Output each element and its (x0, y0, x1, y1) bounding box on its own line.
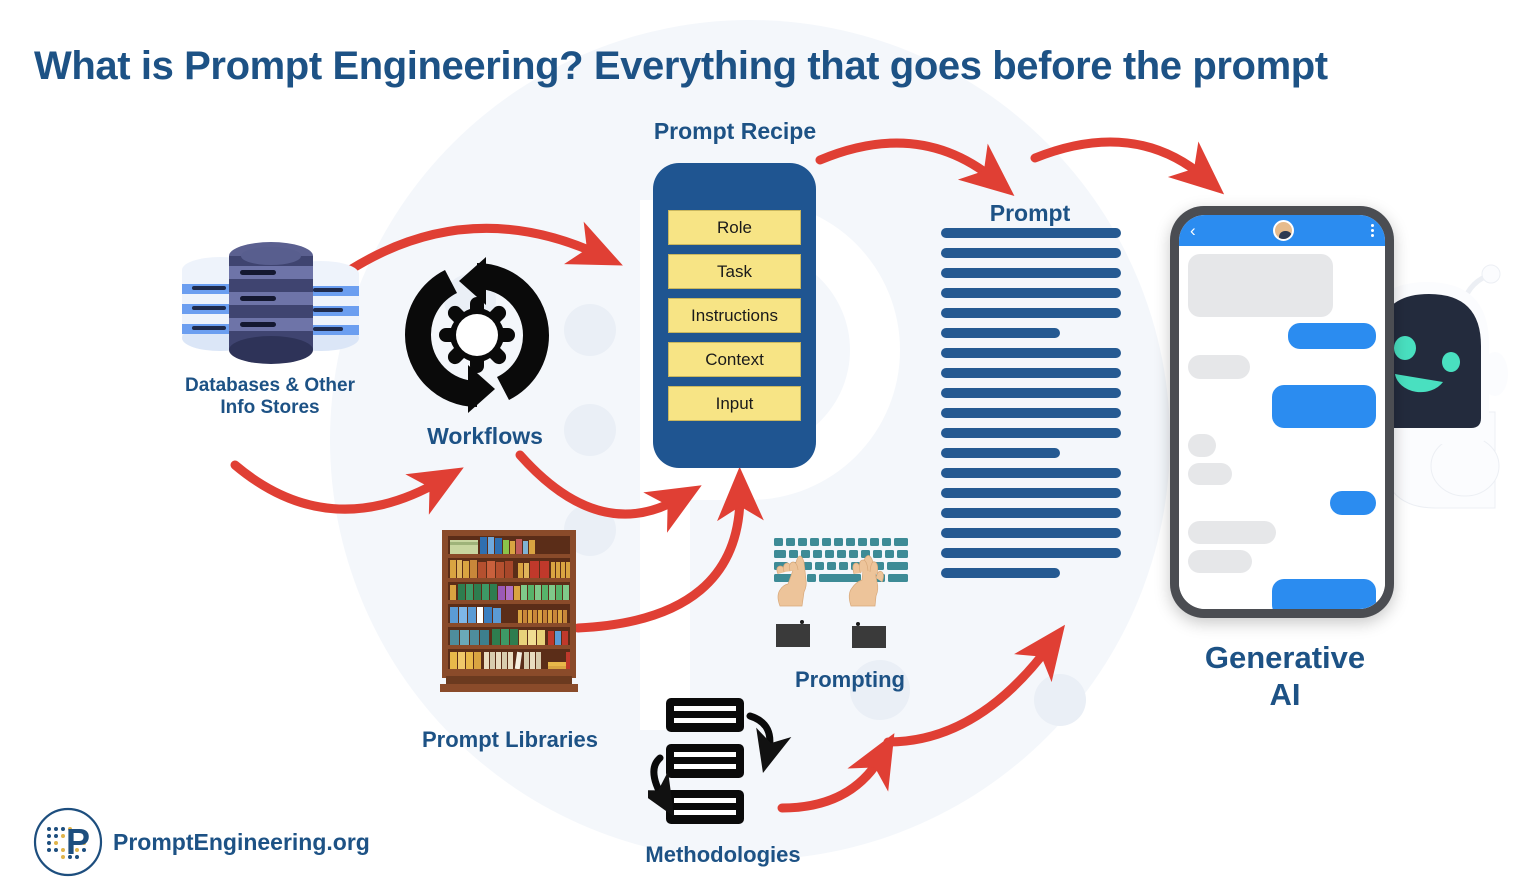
three-dots-vertical-icon[interactable] (1371, 224, 1374, 237)
generative-ai-label-line2: AI (1270, 677, 1301, 712)
prompt-line-4 (941, 288, 1121, 298)
arrow-prompting-to-prompt (888, 645, 1050, 742)
prompt-line-1 (941, 228, 1121, 238)
recipe-item-context[interactable]: Context (668, 342, 801, 377)
process-blocks-icon (648, 696, 798, 826)
prompt-line-6 (941, 328, 1060, 338)
node-prompting (772, 534, 912, 652)
arrow-prompt-libraries-to-prompt-recipe (578, 492, 740, 628)
logo-text: PromptEngineering.org (113, 829, 370, 856)
prompt-line-15 (941, 508, 1121, 518)
chat-bubble-4 (1272, 385, 1376, 428)
generative-ai-label-line1: Generative (1205, 640, 1365, 675)
generative-ai-label: Generative AI (1175, 640, 1395, 713)
prompt-recipe-title: Prompt Recipe (620, 118, 850, 145)
site-logo[interactable]: P PromptEngineering.org (32, 806, 370, 878)
chat-bubble-1 (1188, 254, 1333, 317)
database-stack-icon (178, 240, 364, 370)
page-title: What is Prompt Engineering? Everything t… (34, 44, 1328, 89)
prompt-line-17 (941, 548, 1121, 558)
phone-header: ‹ (1179, 215, 1385, 246)
prompt-recipe-box: Role Task Instructions Context Input (653, 163, 816, 468)
recipe-item-instructions[interactable]: Instructions (668, 298, 801, 333)
prompt-line-3 (941, 268, 1121, 278)
prompt-line-14 (941, 488, 1121, 498)
arrow-prompt-to-generative-ai (1035, 142, 1205, 178)
chat-bubble-9 (1188, 550, 1252, 573)
prompt-line-13 (941, 468, 1121, 478)
chat-bubble-5 (1188, 434, 1216, 457)
arrow-databases-to-workflows (235, 465, 442, 509)
prompt-libraries-label: Prompt Libraries (400, 727, 620, 753)
chat-bubble-6 (1188, 463, 1232, 485)
chat-bubble-2 (1288, 323, 1376, 349)
node-methodologies (648, 696, 798, 826)
svg-text:P: P (66, 821, 90, 862)
recipe-item-task[interactable]: Task (668, 254, 801, 289)
bookshelf-icon (440, 528, 578, 693)
arrow-workflows-to-prompt-recipe (520, 455, 680, 514)
prompt-line-2 (941, 248, 1121, 258)
prompt-line-5 (941, 308, 1121, 318)
phone-screen: ‹ Aa (1179, 215, 1385, 609)
node-databases (178, 240, 364, 370)
prompt-text-lines (941, 228, 1121, 578)
node-workflows (389, 255, 565, 415)
prompt-line-9 (941, 388, 1121, 398)
chat-bubble-8 (1188, 521, 1276, 544)
prompt-label: Prompt (940, 200, 1120, 227)
prompt-line-11 (941, 428, 1121, 438)
user-avatar-icon[interactable] (1273, 220, 1294, 241)
prompt-line-10 (941, 408, 1121, 418)
prompting-label: Prompting (760, 667, 940, 693)
methodologies-label: Methodologies (620, 842, 826, 868)
chevron-left-icon[interactable]: ‹ (1190, 222, 1196, 239)
chat-bubble-7 (1330, 491, 1376, 515)
prompt-line-7 (941, 348, 1121, 358)
arrow-prompt-recipe-to-prompt (820, 143, 995, 180)
prompt-line-16 (941, 528, 1121, 538)
recipe-item-input[interactable]: Input (668, 386, 801, 421)
phone-frame: ‹ Aa (1170, 206, 1394, 618)
prompt-line-18 (941, 568, 1060, 578)
node-prompt-libraries (440, 528, 578, 693)
hands-on-keyboard-icon (772, 534, 912, 652)
workflows-label: Workflows (395, 423, 575, 450)
chat-bubble-10 (1272, 579, 1376, 609)
chat-message-list[interactable] (1179, 246, 1385, 609)
prompt-line-8 (941, 368, 1121, 378)
chat-bubble-3 (1188, 355, 1250, 379)
node-generative-ai-phone[interactable]: ‹ Aa (1170, 206, 1394, 618)
prompt-line-12 (941, 448, 1060, 458)
promptengineering-logo-icon: P (32, 806, 104, 878)
databases-label-line2: Info Stores (220, 397, 319, 418)
circular-arrows-gear-icon (389, 255, 565, 415)
databases-label-line1: Databases & Other (185, 375, 355, 396)
databases-label: Databases & Other Info Stores (160, 375, 380, 420)
recipe-item-role[interactable]: Role (668, 210, 801, 245)
